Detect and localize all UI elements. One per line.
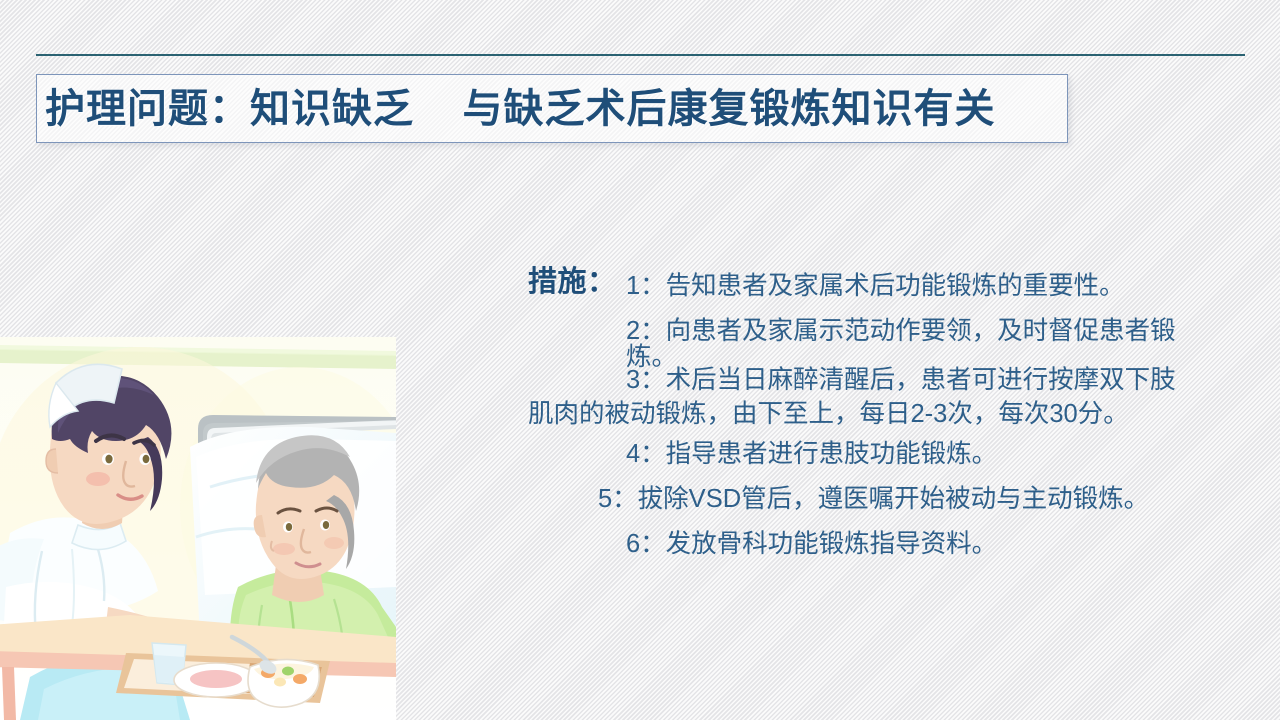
measure-item-3: 3：术后当日麻醉清醒后，患者可进行按摩双下肢肌肉的被动锻炼，由下至上，每日2-3… bbox=[528, 364, 1200, 431]
measure-item-2: 2：向患者及家属示范动作要领，及时督促患者锻炼。 bbox=[626, 319, 1200, 370]
measures-heading: 措施： bbox=[528, 268, 617, 297]
slide-title-box: 护理问题：知识缺乏 与缺乏术后康复锻炼知识有关 bbox=[36, 74, 1068, 143]
illustration-svg bbox=[0, 337, 396, 720]
measure-item-6: 6：发放骨科功能锻炼指导资料。 bbox=[626, 532, 997, 558]
nurse-feeding-patient-illustration bbox=[0, 337, 396, 720]
measure-item-1: 1：告知患者及家属术后功能锻炼的重要性。 bbox=[626, 274, 1125, 300]
page-title: 护理问题：知识缺乏 与缺乏术后康复锻炼知识有关 bbox=[37, 89, 995, 129]
header-divider-rule bbox=[36, 54, 1245, 56]
slide-canvas: 护理问题：知识缺乏 与缺乏术后康复锻炼知识有关 bbox=[0, 0, 1280, 720]
measure-item-4: 4：指导患者进行患肢功能锻炼。 bbox=[626, 442, 997, 468]
measure-item-5: 5：拔除VSD管后，遵医嘱开始被动与主动锻炼。 bbox=[598, 487, 1149, 513]
